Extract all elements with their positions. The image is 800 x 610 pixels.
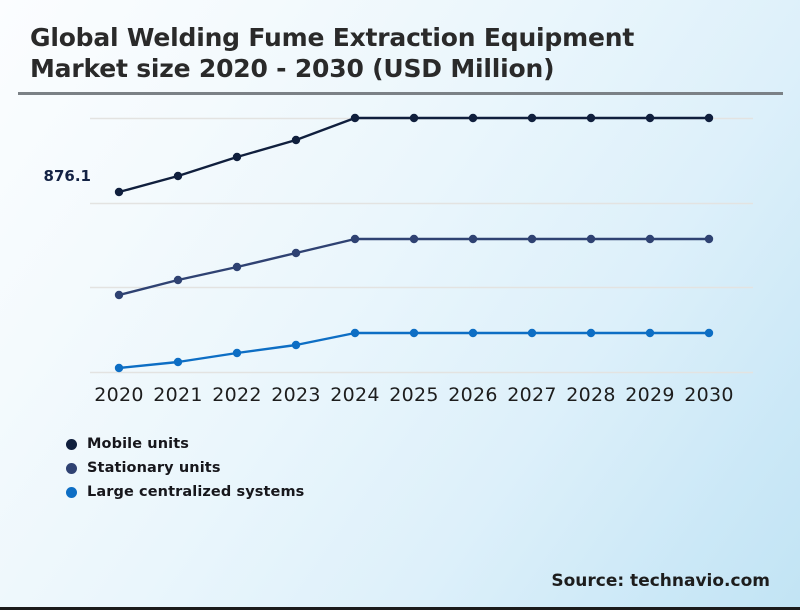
legend-item-stationary-units[interactable]: Stationary units <box>66 456 304 480</box>
source-attribution: Source: technavio.com <box>551 571 770 591</box>
legend-dot-large-centralized-systems-icon <box>66 487 77 498</box>
legend-item-label: Mobile units <box>87 436 189 452</box>
legend-item-mobile-units[interactable]: Mobile units <box>66 432 304 456</box>
data-point-value-label: 876.1 <box>44 167 91 185</box>
legend-item-label: Large centralized systems <box>87 484 304 500</box>
x-axis-tick-2030: 2030 <box>674 384 744 406</box>
chart-figure: Global Welding Fume Extraction Equipment… <box>0 0 800 610</box>
legend-dot-stationary-units-icon <box>66 463 77 474</box>
chart-legend: Mobile unitsStationary unitsLarge centra… <box>66 432 304 504</box>
legend-item-large-centralized-systems[interactable]: Large centralized systems <box>66 480 304 504</box>
data-point-labels: 876.1 <box>0 0 800 610</box>
legend-item-label: Stationary units <box>87 460 221 476</box>
x-axis-tick-labels: 2020202120222023202420252026202720282029… <box>0 384 800 410</box>
legend-dot-mobile-units-icon <box>66 439 77 450</box>
